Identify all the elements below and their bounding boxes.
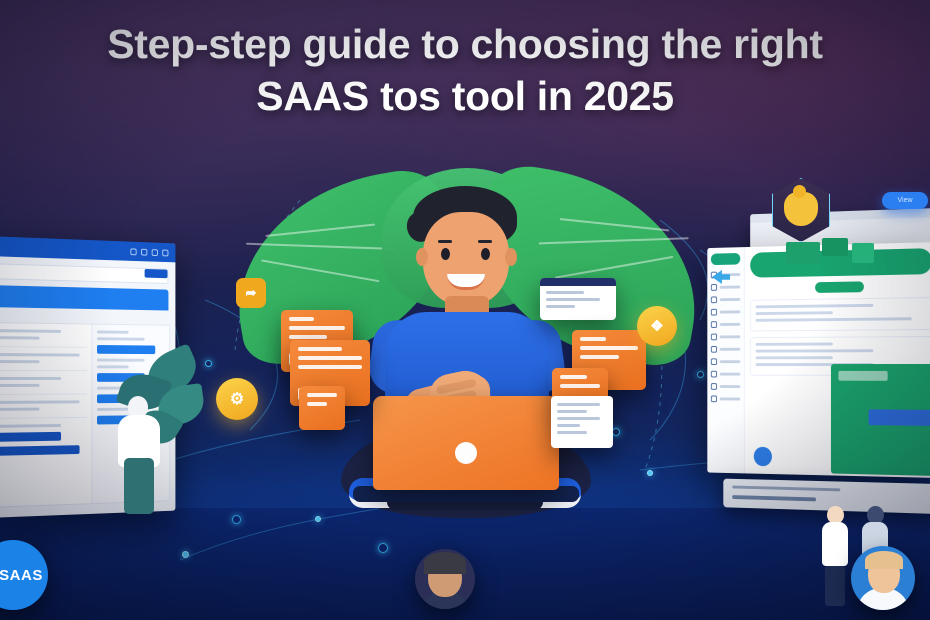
- bell-icon[interactable]: [152, 249, 158, 256]
- sidebar-item-tasks[interactable]: [711, 309, 740, 316]
- avatar-center[interactable]: [415, 549, 475, 609]
- network-node: [378, 543, 388, 553]
- sidebar-item-files[interactable]: [711, 346, 740, 353]
- sidebar-item-calendar[interactable]: [711, 321, 740, 328]
- check-icon: [711, 309, 717, 316]
- stats-panel: [750, 297, 930, 331]
- users-icon: [711, 296, 717, 303]
- table-column: [0, 323, 91, 507]
- saas-badge-label: SAAS: [0, 567, 43, 584]
- avatar-right[interactable]: [851, 546, 915, 610]
- network-node: [182, 551, 189, 558]
- hex-avatar-frame: [772, 178, 830, 242]
- person-illustration: [784, 192, 818, 226]
- green-promo-card: [831, 364, 930, 476]
- sidebar-item-messages[interactable]: [711, 333, 740, 340]
- secondary-cta-button[interactable]: [815, 281, 864, 293]
- folder-icon: [711, 346, 717, 353]
- search-input[interactable]: [0, 263, 168, 284]
- sidebar-logo: [711, 253, 740, 265]
- card-icon: [711, 358, 717, 365]
- cart-icon[interactable]: [141, 248, 147, 255]
- page-title: Step-step guide to choosing the right SA…: [0, 18, 930, 122]
- person-illustration-center: [335, 186, 597, 538]
- floating-white-card[interactable]: [540, 278, 616, 320]
- network-node: [232, 515, 241, 524]
- sidebar-item-billing[interactable]: [711, 358, 740, 365]
- mail-icon: [711, 334, 717, 341]
- table-row[interactable]: [0, 432, 61, 442]
- sidebar-item-reports[interactable]: [711, 284, 740, 291]
- table-row[interactable]: [0, 445, 80, 456]
- floating-white-card[interactable]: [551, 396, 613, 448]
- calendar-icon: [711, 321, 717, 328]
- plug-icon: [711, 371, 717, 378]
- floating-green-cards: [786, 238, 882, 268]
- chat-fab-button[interactable]: [754, 447, 772, 467]
- left-dashboard-tabbar: [0, 285, 168, 310]
- sidebar-item-help[interactable]: [711, 396, 740, 403]
- puzzle-icon-badge[interactable]: ❖: [637, 306, 677, 346]
- network-node: [315, 516, 321, 522]
- orange-laptop: [373, 396, 559, 490]
- gear-icon: [711, 383, 717, 390]
- share-icon-badge[interactable]: ➦: [236, 278, 266, 308]
- network-node: [612, 428, 620, 436]
- primary-cta-button[interactable]: [145, 269, 168, 278]
- network-icon-badge[interactable]: ⚙: [216, 378, 258, 420]
- search-icon[interactable]: [130, 248, 136, 255]
- laptop-logo: [455, 442, 477, 464]
- sidebar-item-settings[interactable]: [711, 383, 740, 390]
- sidebar-item-integrations[interactable]: [711, 371, 740, 378]
- hero-banner: Step-step guide to choosing the right SA…: [0, 0, 930, 620]
- network-node: [647, 470, 653, 476]
- menu-icon[interactable]: [162, 249, 168, 256]
- promo-cta-button[interactable]: [869, 409, 930, 426]
- right-dashboard-mockup[interactable]: [707, 232, 930, 500]
- title-line-1: Step-step guide to choosing the right: [107, 21, 823, 67]
- view-pill-button[interactable]: View: [882, 192, 928, 209]
- floating-orange-card[interactable]: [299, 386, 345, 430]
- face: [423, 212, 509, 306]
- help-icon: [711, 396, 717, 403]
- standing-person-left: [112, 396, 172, 514]
- chart-icon: [711, 284, 717, 291]
- sidebar-item-users[interactable]: [711, 296, 740, 303]
- sidebar-nav: [707, 247, 744, 473]
- title-line-2: SAAS tos tool in 2025: [10, 70, 920, 122]
